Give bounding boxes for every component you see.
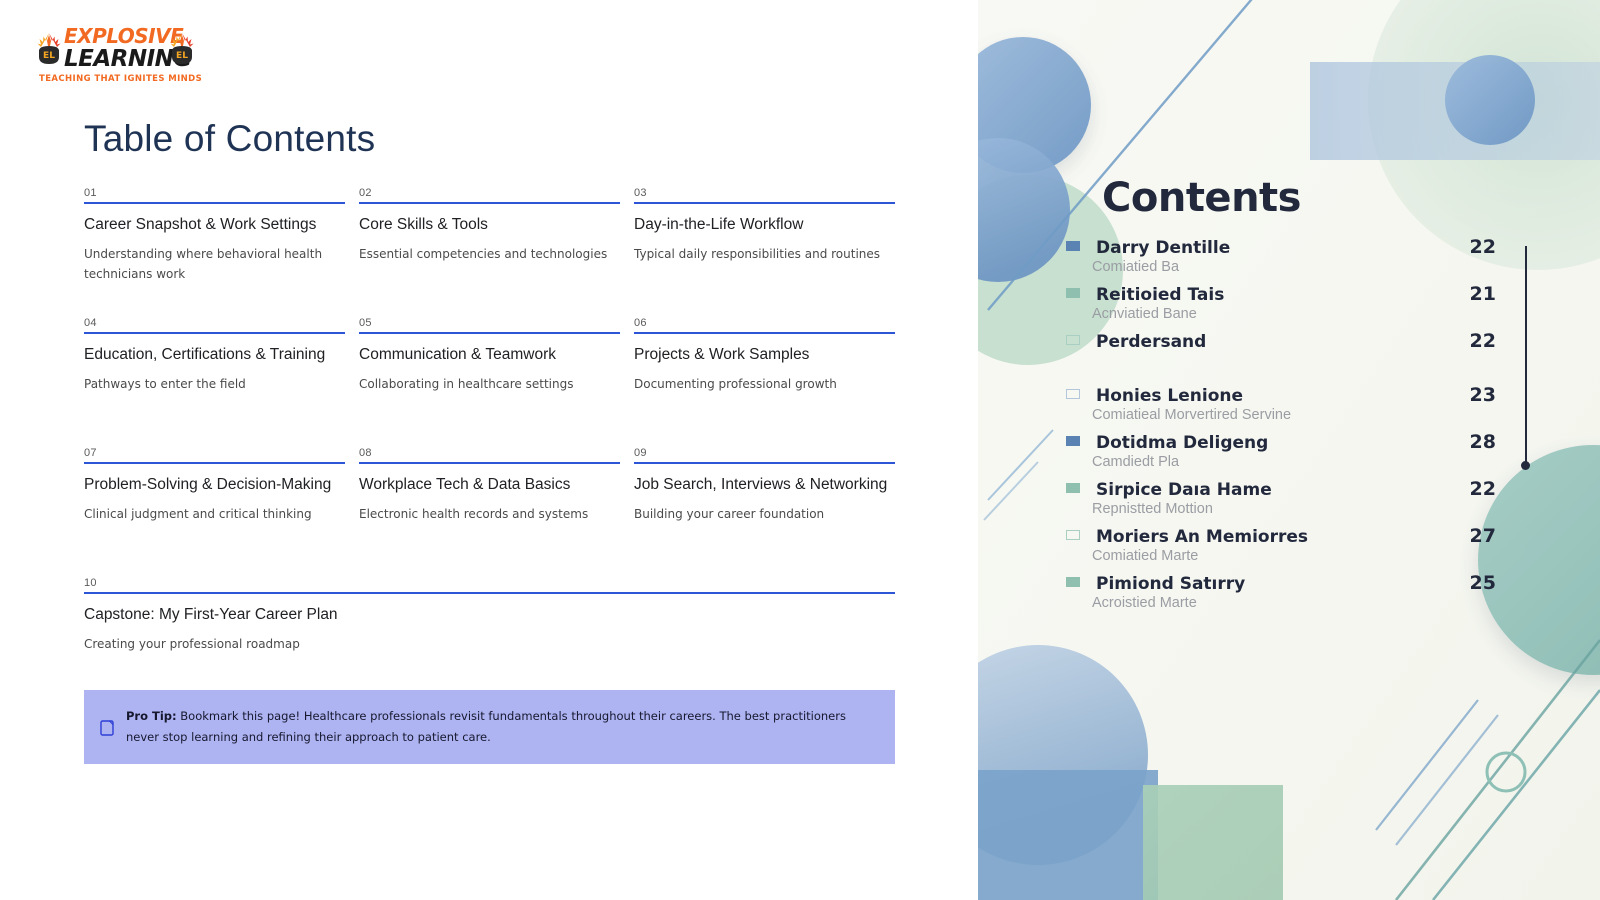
- toc-entry-title: Job Search, Interviews & Networking: [634, 474, 895, 496]
- toc-entry-number: 09: [634, 446, 895, 462]
- toc-entry-title: Workplace Tech & Data Basics: [359, 474, 620, 496]
- pro-tip-text: Pro Tip: Bookmark this page! Healthcare …: [126, 706, 877, 748]
- contents-item-page: 23: [1470, 384, 1496, 406]
- contents-item[interactable]: Sirpice Daıa Hame 22 Repnistted Mottion: [1066, 478, 1496, 517]
- toc-entry-01[interactable]: 01 Career Snapshot & Work Settings Under…: [84, 186, 345, 316]
- logo-lockup: EL EXPLOSIVE LEARNING EL: [36, 26, 196, 74]
- toc-entry-02[interactable]: 02 Core Skills & Tools Essential compete…: [359, 186, 620, 316]
- contents-item-subtitle: Repnistted Mottion: [1092, 501, 1496, 517]
- bullet-square-icon: [1066, 436, 1080, 446]
- toc-page: EL EXPLOSIVE LEARNING EL TEACHING THAT I…: [0, 0, 1600, 900]
- contents-rail: [1525, 246, 1527, 466]
- toc-entry-description: Clinical judgment and critical thinking: [84, 504, 345, 524]
- toc-row-1: 01 Career Snapshot & Work Settings Under…: [84, 186, 895, 316]
- toc-entry-description: Typical daily responsibilities and routi…: [634, 244, 895, 264]
- flame-bomb-icon-left: EL: [36, 32, 62, 66]
- toc-entry-title: Day-in-the-Life Workflow: [634, 214, 895, 236]
- bullet-square-outline-icon: [1066, 335, 1080, 345]
- toc-entry-title: Communication & Teamwork: [359, 344, 620, 366]
- contents-item-subtitle: Camdiedt Pla: [1092, 454, 1496, 470]
- contents-heading: Contents: [1102, 175, 1301, 221]
- flame-bomb-icon-right: EL: [169, 32, 195, 66]
- toc-entry-description: Collaborating in healthcare settings: [359, 374, 620, 394]
- bullet-square-icon: [1066, 288, 1080, 298]
- contents-item-title: Moriers An Memiorres: [1096, 527, 1470, 547]
- contents-item-page: 22: [1470, 330, 1496, 352]
- contents-item-page: 28: [1470, 431, 1496, 453]
- toc-entry-rule: [359, 202, 620, 204]
- bullet-square-icon: [1066, 577, 1080, 587]
- toc-entry-number: 01: [84, 186, 345, 202]
- toc-grid: 01 Career Snapshot & Work Settings Under…: [84, 186, 895, 654]
- toc-entry-title: Education, Certifications & Training: [84, 344, 345, 366]
- contents-item-title: Honies Lenione: [1096, 386, 1470, 406]
- toc-entry-rule: [634, 202, 895, 204]
- contents-item-title: Reitioied Tais: [1096, 285, 1470, 305]
- pro-tip-label: Pro Tip:: [126, 709, 177, 723]
- contents-item-subtitle: Acnviatied Bane: [1092, 306, 1496, 322]
- toc-entry-number: 05: [359, 316, 620, 332]
- toc-entry-rule: [84, 462, 345, 464]
- toc-entry-03[interactable]: 03 Day-in-the-Life Workflow Typical dail…: [634, 186, 895, 316]
- svg-text:EL: EL: [176, 51, 188, 61]
- contents-item-row: Reitioied Tais 21: [1066, 283, 1496, 305]
- toc-entry-rule: [634, 462, 895, 464]
- contents-item-subtitle: Comiatieal Morvertired Servine: [1092, 407, 1496, 423]
- toc-entry-rule: [84, 332, 345, 334]
- logo-wordmark: EXPLOSIVE LEARNING: [64, 26, 174, 71]
- contents-item-row: Honies Lenione 23: [1066, 384, 1496, 406]
- bullet-square-icon: [1066, 241, 1080, 251]
- toc-entry-title: Capstone: My First-Year Career Plan: [84, 604, 895, 626]
- toc-entry-number: 02: [359, 186, 620, 202]
- page-title: Table of Contents: [84, 118, 375, 160]
- bookmark-icon: [100, 708, 114, 748]
- toc-entry-number: 10: [84, 576, 895, 592]
- toc-entry-description: Electronic health records and systems: [359, 504, 620, 524]
- contents-item-title: Sirpice Daıa Hame: [1096, 480, 1470, 500]
- logo-tagline: TEACHING THAT IGNITES MINDS: [39, 74, 202, 84]
- contents-rail-dot: [1521, 461, 1530, 470]
- toc-entry-number: 04: [84, 316, 345, 332]
- toc-entry-rule: [84, 592, 895, 594]
- bullet-square-icon: [1066, 483, 1080, 493]
- contents-item-subtitle: Comiatied Marte: [1092, 548, 1496, 564]
- contents-item-page: 22: [1470, 236, 1496, 258]
- contents-item[interactable]: Darry Dentille 22 Comiatied Ba: [1066, 236, 1496, 275]
- toc-entry-04[interactable]: 04 Education, Certifications & Training …: [84, 316, 345, 446]
- contents-item[interactable]: Honies Lenione 23 Comiatieal Morvertired…: [1066, 384, 1496, 423]
- toc-entry-title: Career Snapshot & Work Settings: [84, 214, 345, 236]
- right-decorative-panel: Contents Darry Dentille 22 Comiatied Ba …: [978, 0, 1600, 900]
- pro-tip-callout: Pro Tip: Bookmark this page! Healthcare …: [84, 690, 895, 764]
- toc-entry-10[interactable]: 10 Capstone: My First-Year Career Plan C…: [84, 576, 895, 654]
- toc-entry-rule: [359, 462, 620, 464]
- toc-entry-description: Documenting professional growth: [634, 374, 895, 394]
- toc-entry-description: Essential competencies and technologies: [359, 244, 620, 264]
- bullet-square-outline-icon: [1066, 530, 1080, 540]
- contents-item-subtitle: Comiatied Ba: [1092, 259, 1496, 275]
- toc-entry-09[interactable]: 09 Job Search, Interviews & Networking B…: [634, 446, 895, 576]
- brand-logo[interactable]: EL EXPLOSIVE LEARNING EL TEACHING THAT I…: [36, 26, 196, 88]
- contents-item-page: 22: [1470, 478, 1496, 500]
- contents-item[interactable]: Moriers An Memiorres 27 Comiatied Marte: [1066, 525, 1496, 564]
- pro-tip-body: Bookmark this page! Healthcare professio…: [126, 709, 846, 744]
- toc-entry-description: Pathways to enter the field: [84, 374, 345, 394]
- toc-row-4: 10 Capstone: My First-Year Career Plan C…: [84, 576, 895, 654]
- toc-entry-05[interactable]: 05 Communication & Teamwork Collaboratin…: [359, 316, 620, 446]
- contents-item-page: 21: [1470, 283, 1496, 305]
- toc-entry-rule: [634, 332, 895, 334]
- toc-entry-number: 06: [634, 316, 895, 332]
- toc-entry-description: Understanding where behavioral health te…: [84, 244, 345, 284]
- contents-item-title: Darry Dentille: [1096, 238, 1470, 258]
- toc-row-3: 07 Problem-Solving & Decision-Making Cli…: [84, 446, 895, 576]
- contents-item-row: Dotidma Deligeng 28: [1066, 431, 1496, 453]
- toc-entry-title: Problem-Solving & Decision-Making: [84, 474, 345, 496]
- toc-entry-number: 03: [634, 186, 895, 202]
- toc-entry-number: 08: [359, 446, 620, 462]
- toc-entry-title: Core Skills & Tools: [359, 214, 620, 236]
- svg-text:EL: EL: [43, 51, 55, 61]
- toc-row-2: 04 Education, Certifications & Training …: [84, 316, 895, 446]
- toc-entry-title: Projects & Work Samples: [634, 344, 895, 366]
- contents-item-row: Perdersand 22: [1066, 330, 1496, 352]
- logo-word-explosive: EXPLOSIVE: [64, 26, 174, 46]
- toc-entry-description: Creating your professional roadmap: [84, 634, 895, 654]
- left-content-panel: EL EXPLOSIVE LEARNING EL TEACHING THAT I…: [0, 0, 978, 900]
- toc-entry-rule: [84, 202, 345, 204]
- contents-item-title: Perdersand: [1096, 332, 1470, 352]
- contents-item-row: Pimiond Satırry 25: [1066, 572, 1496, 594]
- toc-entry-08[interactable]: 08 Workplace Tech & Data Basics Electron…: [359, 446, 620, 576]
- toc-entry-rule: [359, 332, 620, 334]
- toc-entry-number: 07: [84, 446, 345, 462]
- contents-item-row: Sirpice Daıa Hame 22: [1066, 478, 1496, 500]
- toc-entry-07[interactable]: 07 Problem-Solving & Decision-Making Cli…: [84, 446, 345, 576]
- contents-item-row: Moriers An Memiorres 27: [1066, 525, 1496, 547]
- contents-item[interactable]: Dotidma Deligeng 28 Camdiedt Pla: [1066, 431, 1496, 470]
- contents-item-row: Darry Dentille 22: [1066, 236, 1496, 258]
- contents-item-title: Pimiond Satırry: [1096, 574, 1470, 594]
- contents-item-title: Dotidma Deligeng: [1096, 433, 1470, 453]
- toc-entry-description: Building your career foundation: [634, 504, 895, 524]
- contents-list: Darry Dentille 22 Comiatied Ba Reitioied…: [1066, 236, 1496, 619]
- contents-item-page: 27: [1470, 525, 1496, 547]
- bullet-square-outline-icon: [1066, 389, 1080, 399]
- contents-item[interactable]: Perdersand 22: [1066, 330, 1496, 352]
- logo-word-learning: LEARNING: [64, 47, 174, 71]
- toc-entry-06[interactable]: 06 Projects & Work Samples Documenting p…: [634, 316, 895, 446]
- contents-item-page: 25: [1470, 572, 1496, 594]
- contents-item[interactable]: Reitioied Tais 21 Acnviatied Bane: [1066, 283, 1496, 322]
- contents-item[interactable]: Pimiond Satırry 25 Acroistied Marte: [1066, 572, 1496, 611]
- contents-item-subtitle: Acroistied Marte: [1092, 595, 1496, 611]
